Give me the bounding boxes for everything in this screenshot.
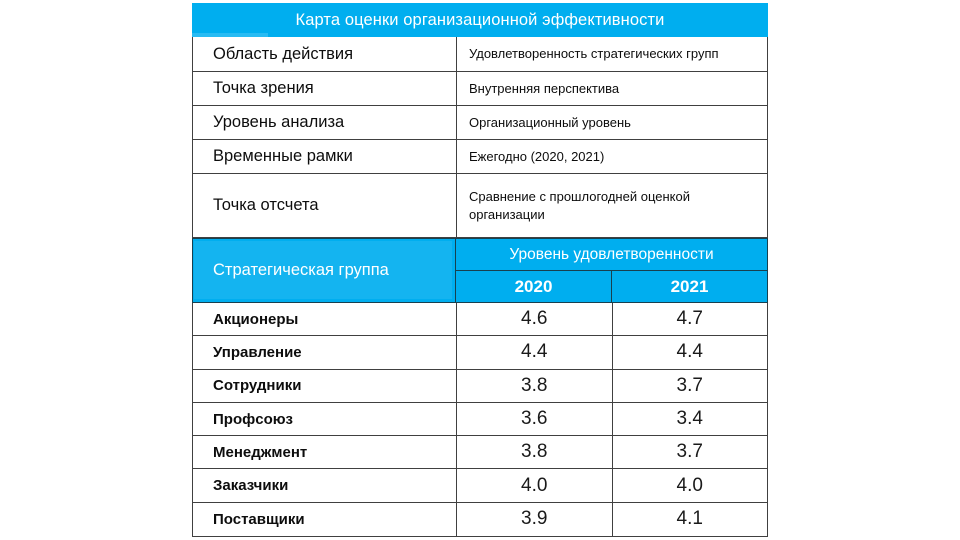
cell-group: Акционеры: [193, 303, 457, 335]
slide-canvas: Карта оценки организационной эффективнос…: [0, 0, 960, 540]
cell-value-2021: 4.0: [613, 469, 768, 501]
cell-value-2021: 4.4: [613, 336, 768, 368]
column-header-measure: Уровень удовлетворенности: [456, 238, 768, 270]
cell-group: Поставщики: [193, 503, 457, 536]
info-row: Точка отсчета Сравнение с прошлогодней о…: [193, 173, 767, 237]
info-label-scope: Область действия: [193, 37, 457, 71]
cell-value-2020: 4.6: [457, 303, 613, 335]
cell-value-2020: 3.6: [457, 403, 613, 435]
info-value-timeframe: Ежегодно (2020, 2021): [457, 140, 767, 173]
cell-group: Заказчики: [193, 469, 457, 501]
info-row: Временные рамки Ежегодно (2020, 2021): [193, 139, 767, 173]
cell-value-2021: 3.4: [613, 403, 768, 435]
organizational-effectiveness-scorecard: Карта оценки организационной эффективнос…: [192, 3, 768, 537]
column-header-year-2021: 2021: [612, 271, 767, 302]
info-label-viewpoint: Точка зрения: [193, 72, 457, 105]
table-row: Заказчики 4.0 4.0: [193, 469, 767, 502]
scorecard-info-block: Область действия Удовлетворенность страт…: [192, 37, 768, 238]
cell-group: Управление: [193, 336, 457, 368]
measure-header-group: Уровень удовлетворенности 2020 2021: [456, 238, 768, 303]
cell-value-2021: 4.1: [613, 503, 768, 536]
table-row: Акционеры 4.6 4.7: [193, 303, 767, 336]
cell-value-2020: 4.0: [457, 469, 613, 501]
cell-value-2020: 3.8: [457, 370, 613, 402]
table-row: Профсоюз 3.6 3.4: [193, 403, 767, 436]
info-label-timeframe: Временные рамки: [193, 140, 457, 173]
cell-value-2021: 4.7: [613, 303, 768, 335]
table-row: Менеджмент 3.8 3.7: [193, 436, 767, 469]
cell-group: Профсоюз: [193, 403, 457, 435]
table-row: Управление 4.4 4.4: [193, 336, 767, 369]
data-table-header: Стратегическая группа Уровень удовлетвор…: [192, 238, 768, 303]
cell-group: Сотрудники: [193, 370, 457, 402]
info-row: Уровень анализа Организационный уровень: [193, 105, 767, 139]
info-value-viewpoint: Внутренняя перспектива: [457, 72, 767, 105]
page-title: Карта оценки организационной эффективнос…: [296, 12, 665, 29]
cell-value-2020: 3.8: [457, 436, 613, 468]
cell-value-2020: 3.9: [457, 503, 613, 536]
column-header-year-2020: 2020: [456, 271, 612, 302]
data-table-body: Акционеры 4.6 4.7 Управление 4.4 4.4 Сот…: [192, 303, 768, 537]
year-header-row: 2020 2021: [456, 270, 768, 303]
info-value-scope: Удовлетворенность стратегических групп: [457, 37, 767, 71]
info-row: Точка зрения Внутренняя перспектива: [193, 71, 767, 105]
cell-value-2021: 3.7: [613, 370, 768, 402]
cell-group: Менеджмент: [193, 436, 457, 468]
scorecard-title-bar: Карта оценки организационной эффективнос…: [192, 3, 768, 37]
cell-value-2020: 4.4: [457, 336, 613, 368]
info-row: Область действия Удовлетворенность страт…: [193, 37, 767, 71]
info-label-analysis-level: Уровень анализа: [193, 106, 457, 139]
table-row: Поставщики 3.9 4.1: [193, 503, 767, 536]
info-value-benchmark: Сравнение с прошлогодней оценкой организ…: [457, 174, 767, 237]
column-header-group: Стратегическая группа: [192, 238, 456, 303]
column-header-group-label: Стратегическая группа: [213, 261, 389, 280]
table-row: Сотрудники 3.8 3.7: [193, 370, 767, 403]
cell-value-2021: 3.7: [613, 436, 768, 468]
info-label-benchmark: Точка отсчета: [193, 174, 457, 237]
info-value-analysis-level: Организационный уровень: [457, 106, 767, 139]
